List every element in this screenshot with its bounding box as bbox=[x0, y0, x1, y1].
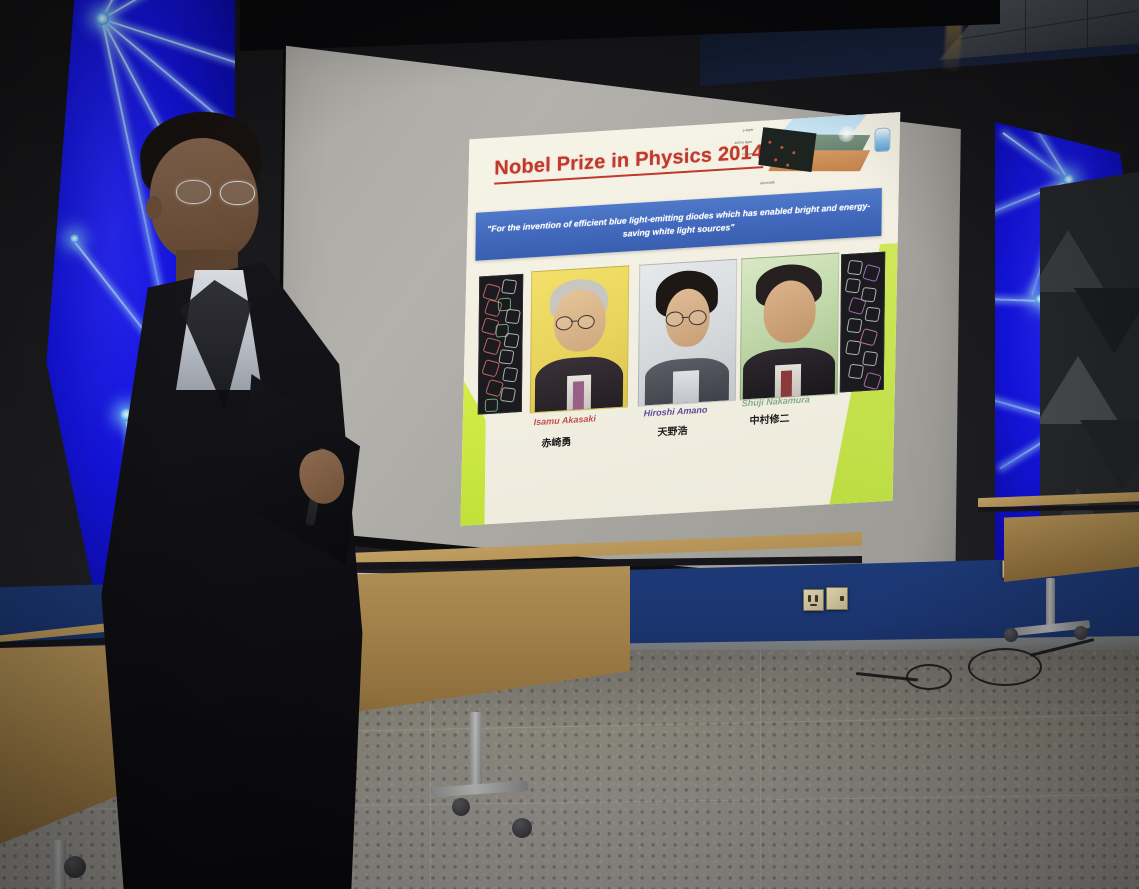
projected-slide: Nobel Prize in Physics 2014 "For the inv… bbox=[455, 110, 907, 530]
name-en-amano: Hiroshi Amano bbox=[644, 405, 708, 419]
presenter bbox=[84, 112, 374, 889]
laureate-photo-row bbox=[478, 250, 883, 415]
led-node bbox=[96, 12, 109, 25]
crystal-lattice-right bbox=[840, 252, 885, 393]
diagram-label-electrode: electrode bbox=[760, 180, 775, 185]
lecture-hall-photo: Nobel Prize in Physics 2014 "For the inv… bbox=[0, 0, 1139, 889]
slide-quote-text: "For the invention of efficient blue lig… bbox=[476, 199, 882, 250]
left-table-caster[interactable] bbox=[64, 856, 86, 878]
laureate-photo-amano bbox=[638, 259, 737, 407]
data-port-plate[interactable] bbox=[826, 587, 848, 610]
diagram-label-n-layer: n-layer bbox=[742, 152, 753, 157]
right-table-caster[interactable] bbox=[1004, 628, 1018, 642]
name-jp-amano: 天野浩 bbox=[657, 422, 687, 439]
right-table-caster[interactable] bbox=[1074, 626, 1088, 640]
diagram-bulb-icon bbox=[874, 127, 890, 152]
power-outlet-plate[interactable] bbox=[803, 589, 824, 611]
diagram-label-active-layer: active layer bbox=[734, 140, 752, 145]
center-table-caster[interactable] bbox=[512, 818, 532, 838]
name-jp-nakamura: 中村修二 bbox=[749, 410, 789, 427]
laureate-photo-nakamura bbox=[740, 252, 839, 400]
presenter-ear bbox=[146, 196, 162, 220]
laureate-photo-akasaki bbox=[530, 265, 629, 413]
crystal-lattice-left bbox=[478, 274, 523, 415]
diagram-label-p-layer: p-layer bbox=[743, 128, 754, 133]
name-jp-akasaki: 赤崎勇 bbox=[541, 433, 571, 450]
slide-title: Nobel Prize in Physics 2014 bbox=[494, 141, 763, 184]
center-table-leg bbox=[470, 712, 482, 790]
name-en-akasaki: Isamu Akasaki bbox=[534, 413, 596, 427]
led-node bbox=[70, 234, 79, 243]
slide-quote-banner: "For the invention of efficient blue lig… bbox=[475, 188, 881, 261]
center-table-caster[interactable] bbox=[452, 798, 470, 816]
presenter-glasses bbox=[176, 180, 260, 202]
